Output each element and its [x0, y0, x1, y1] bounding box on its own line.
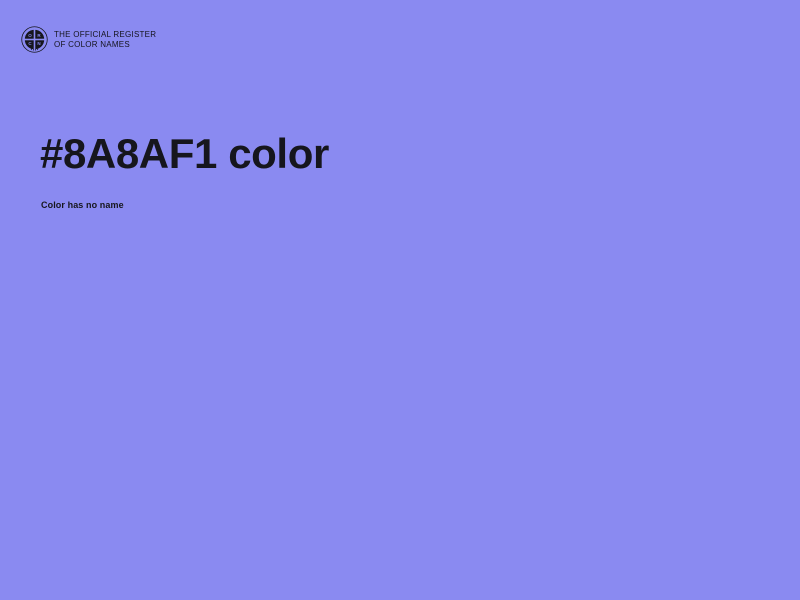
page-content: O R C N THE OFFICIAL REGISTER — [0, 0, 800, 600]
page-title: #8A8AF1 color — [40, 131, 329, 177]
color-name-status: Color has no name — [41, 199, 124, 211]
svg-text:O: O — [28, 33, 32, 38]
brand-line-1: THE OFFICIAL REGISTER — [54, 30, 156, 40]
brand-name: THE OFFICIAL REGISTER OF COLOR NAMES — [54, 29, 156, 50]
brand-line-2: OF COLOR NAMES — [54, 40, 156, 50]
official-register-seal-icon: O R C N — [21, 26, 48, 53]
svg-text:N: N — [37, 41, 40, 46]
color-detail-page: O R C N THE OFFICIAL REGISTER — [0, 0, 800, 600]
brand-lockup[interactable]: O R C N THE OFFICIAL REGISTER — [21, 26, 156, 53]
